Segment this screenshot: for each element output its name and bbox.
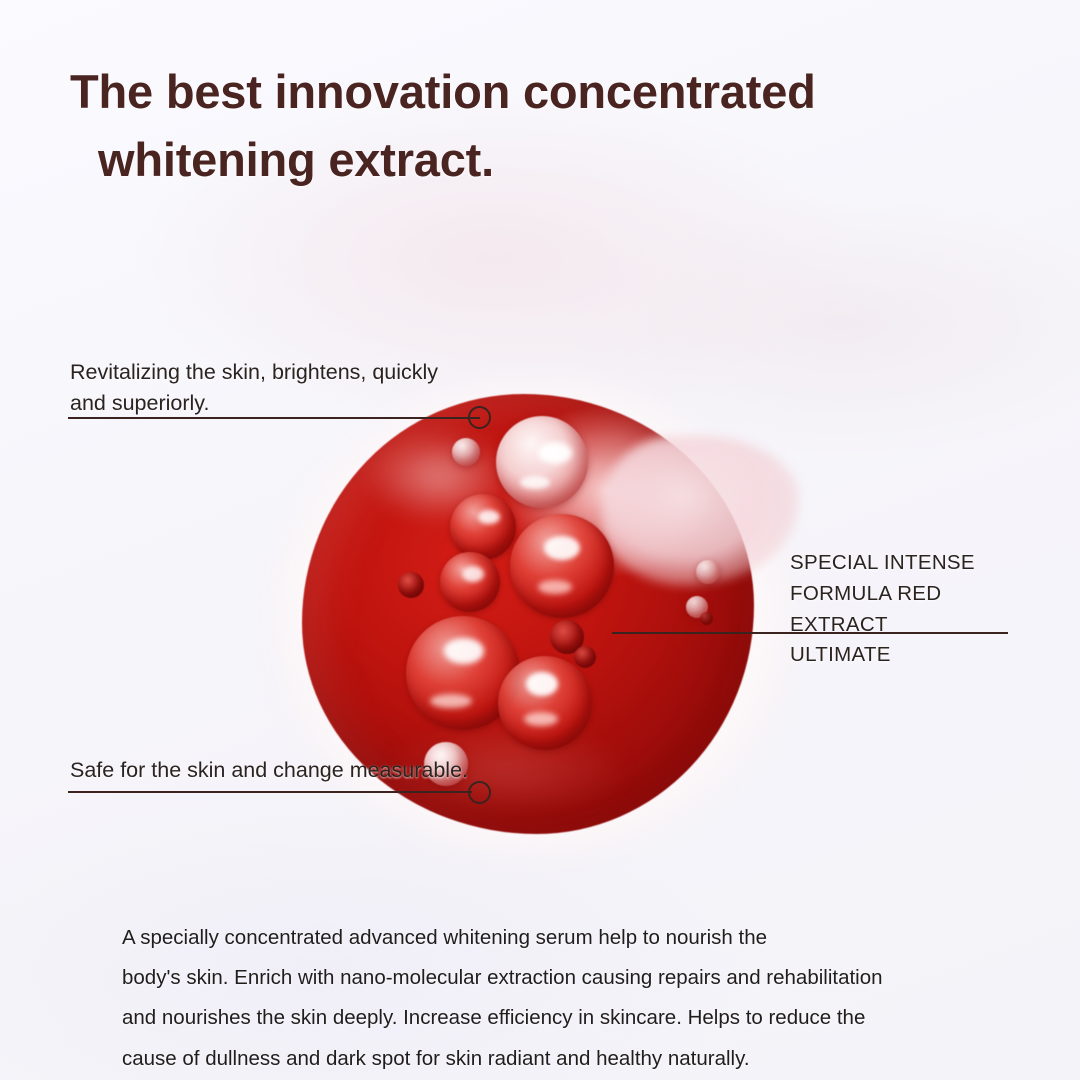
bubble-small-left-center xyxy=(440,552,500,612)
callout-bottom-left-rule xyxy=(68,791,472,793)
paragraph-line-4: cause of dullness and dark spot for skin… xyxy=(122,1039,942,1079)
callout-top-left-line-1: Revitalizing the skin, brightens, quickl… xyxy=(70,357,500,388)
callout-top-left-rule xyxy=(68,417,480,419)
bubble-tiny-upper-left xyxy=(452,438,480,466)
callout-bottom-left-text: Safe for the skin and change measurable. xyxy=(70,755,530,786)
bubble-center-right-glint xyxy=(544,536,580,560)
paragraph-line-2: body's skin. Enrich with nano-molecular … xyxy=(122,958,942,998)
callout-right-line-3: ULTIMATE xyxy=(790,640,1040,671)
callout-bottom-left-line-1: Safe for the skin and change measurable. xyxy=(70,755,530,786)
page-title: The best innovation concentrated whiteni… xyxy=(70,58,970,194)
bubble-center-right xyxy=(510,514,614,618)
callout-top-left-line-2: and superiorly. xyxy=(70,388,500,419)
bubble-large-pale-glint2 xyxy=(520,476,550,489)
callout-right-line-1: SPECIAL INTENSE xyxy=(790,548,1040,579)
bubble-mid-left xyxy=(450,494,516,560)
bubble-lower-left-glint2 xyxy=(430,694,472,708)
headline-line-2: whitening extract. xyxy=(70,126,970,194)
bubble-large-pale xyxy=(496,416,588,508)
bubble-right-edge-upper xyxy=(696,560,720,584)
callout-right-rule xyxy=(612,632,1008,634)
paragraph-line-1: A specially concentrated advanced whiten… xyxy=(122,918,942,958)
bubble-center-right-glint2 xyxy=(538,580,572,594)
callout-top-left-marker xyxy=(468,406,491,429)
paragraph-line-3: and nourishes the skin deeply. Increase … xyxy=(122,998,942,1038)
callout-bottom-left-marker xyxy=(468,781,491,804)
bubble-bottom-center xyxy=(498,656,592,750)
callout-top-left-text: Revitalizing the skin, brightens, quickl… xyxy=(70,357,500,419)
bubble-small-left-center-glint xyxy=(462,566,484,582)
headline-line-1: The best innovation concentrated xyxy=(70,65,816,118)
bubble-right-edge-tiny xyxy=(700,612,713,625)
bubble-mid-left-glint xyxy=(478,510,500,524)
red-serum-drop-image xyxy=(268,372,798,862)
bubble-satellite-c xyxy=(398,572,424,598)
bubble-bottom-center-glint2 xyxy=(524,712,558,726)
description-paragraph: A specially concentrated advanced whiten… xyxy=(122,918,942,1079)
bubble-satellite-b xyxy=(574,646,596,668)
bubble-lower-left-glint xyxy=(444,638,484,664)
bubble-bottom-center-glint xyxy=(526,672,558,696)
bubble-large-pale-glint xyxy=(538,442,572,464)
callout-right-text: SPECIAL INTENSE FORMULA RED EXTRACT ULTI… xyxy=(790,548,1040,671)
